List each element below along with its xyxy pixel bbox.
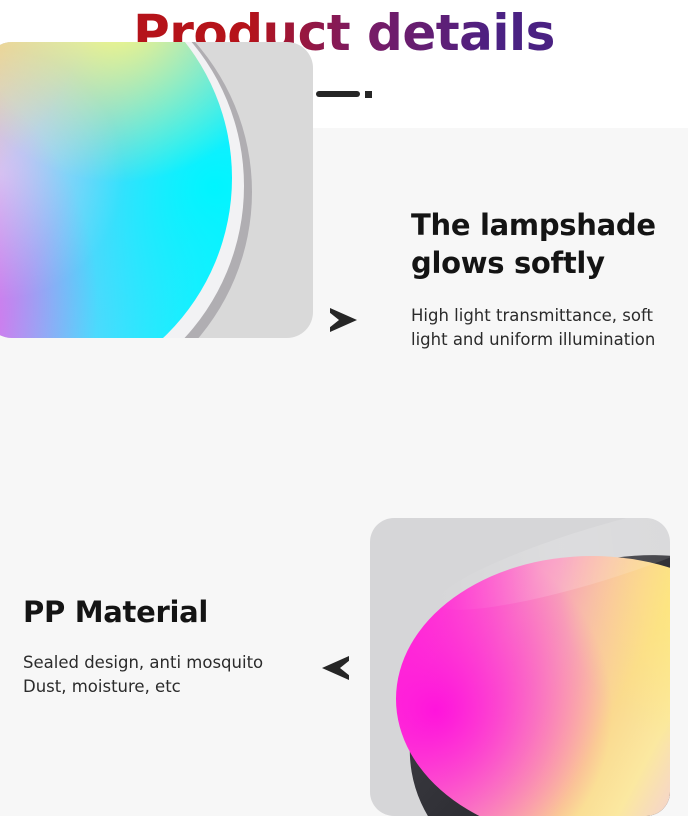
feature-body-lampshade: High light transmittance, soft light and… xyxy=(411,304,687,352)
divider-dot-icon xyxy=(365,91,372,98)
arrow-left-icon xyxy=(322,656,349,680)
pp-material-image-card xyxy=(370,518,670,816)
feature-block-pp-material: PP Material Sealed design, anti mosquito… xyxy=(23,593,323,699)
lampshade-image-card xyxy=(0,42,313,338)
feature-body-pp-material: Sealed design, anti mosquito Dust, moist… xyxy=(23,651,323,699)
feature-heading-lampshade: The lampshade glows softly xyxy=(411,206,687,282)
divider-bar-icon xyxy=(316,91,360,97)
lamp-rgb-face xyxy=(0,42,232,338)
arrow-right-icon xyxy=(330,308,357,332)
feature-block-lampshade: The lampshade glows softly High light tr… xyxy=(411,206,687,352)
feature-heading-pp-material: PP Material xyxy=(23,593,323,631)
